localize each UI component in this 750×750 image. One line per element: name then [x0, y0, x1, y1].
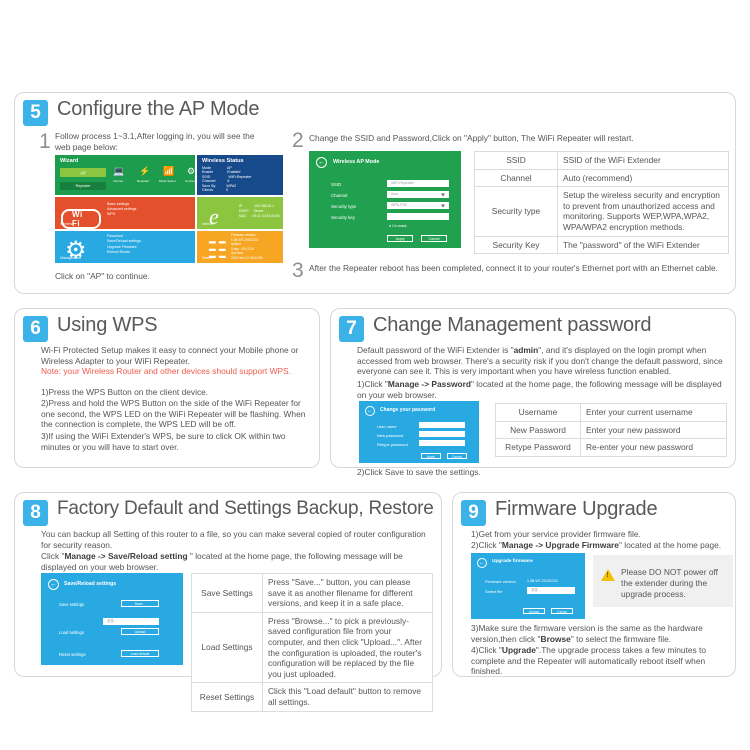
substep-text-5-2: Change the SSID and Password,Click on "A… — [309, 133, 729, 144]
power-warning-box: Please DO NOT power off the extender dur… — [593, 555, 733, 607]
substep-text-5-3: After the Repeater reboot has been compl… — [309, 263, 729, 274]
upload-button[interactable]: Upload — [121, 628, 159, 635]
upload-firmware-button[interactable]: Upload — [523, 608, 545, 614]
apply-button[interactable]: Apply — [387, 235, 413, 242]
ap-field-label-3: Security key — [331, 215, 355, 220]
internet-key-1: DHCP — [239, 209, 249, 213]
status-key-5: Clients — [202, 188, 213, 192]
management-links: Password Save/Reload settings Upgrade Fi… — [107, 234, 141, 256]
table-row: Username Enter your current username — [496, 404, 727, 422]
cell-key: Save Settings — [192, 574, 263, 613]
ap-field-label-1: Channel — [331, 193, 347, 198]
status2-rows: Firmware version 1.0B WT-20151231 Uptime… — [231, 233, 262, 261]
cell-value: Auto (recommend) — [558, 169, 729, 187]
password-panel-title: Change your password — [380, 407, 435, 413]
select-file-input[interactable]: 浏览... — [527, 587, 575, 594]
step-badge-9: 9 — [461, 500, 486, 526]
password-footer: 2)Click Save to save the settings. — [357, 467, 657, 478]
wps-note: Note: your Wireless Router and other dev… — [41, 366, 313, 377]
status-key-0: Mode — [202, 166, 211, 170]
s9-p4-b: Upgrade — [502, 645, 536, 655]
upgrade-panel-title: Upgrade firmware — [492, 559, 533, 564]
step-card-6: 6 Using WPS Wi-Fi Protected Setup makes … — [14, 308, 320, 468]
s9-p3-b: Browse — [541, 634, 571, 644]
wireless-links: Basic settings Advanced settings WPS — [107, 202, 136, 217]
manage-link-3[interactable]: Reboot Router — [107, 250, 141, 255]
step-card-7: 7 Change Management password Default pas… — [330, 308, 736, 468]
s9-p4-a: 4)Click " — [471, 645, 502, 655]
password-paragraph-1: Default password of the WiFi Extender is… — [357, 345, 729, 377]
security-type-value: WPA-PSK — [391, 203, 407, 208]
internet-val-0: 192.168.10.1 — [254, 204, 274, 208]
step-badge-5: 5 — [23, 100, 48, 126]
ap-settings-table: SSID SSID of the WiFi Extender Channel A… — [474, 151, 729, 254]
repeater-button-label: Repeater — [76, 184, 91, 188]
save-settings-button[interactable]: Save... — [121, 600, 159, 607]
table-row: Security type Setup the wireless securit… — [475, 187, 729, 236]
save-reload-panel: ← Save/Reload settings Save settings Sav… — [41, 573, 183, 665]
table-row: Retype Password Re-enter your new passwo… — [496, 439, 727, 457]
upgrade-firmware-panel: ← Upgrade firmware Firmware version 1.0B… — [471, 553, 585, 619]
tile-wizard-title: Wizard — [60, 158, 78, 164]
step-title-7: Change Management password — [373, 314, 651, 337]
tile-internet[interactable]: e IP192.168.10.1 DHCPServer MAC00:11:22:… — [197, 197, 283, 229]
p1-b: admin — [514, 345, 539, 355]
step-title-8: Factory Default and Settings Backup, Res… — [57, 498, 434, 520]
cell-value: The "password" of the WiFi Extender — [558, 236, 729, 254]
instruction-sheet: 5 Configure the AP Mode 1 Follow process… — [0, 0, 750, 750]
cell-key: Security type — [475, 187, 558, 236]
step-title-9: Firmware Upgrade — [495, 498, 657, 521]
load-default-button[interactable]: Load default — [121, 650, 159, 657]
s8-p2-b: Manage -> Save/Reload setting — [64, 551, 187, 561]
ap-field-label-2: Security type — [331, 204, 356, 209]
cell-key: Retype Password — [496, 439, 581, 457]
wps-paragraph-4: 3)If using the WiFi Extender's WPS, be s… — [41, 431, 313, 452]
firmware-paragraph-1: 1)Get from your service provider firmwar… — [471, 529, 733, 540]
flow-label-3: Mode Select — [159, 179, 176, 183]
internet-key-2: MAC — [239, 214, 247, 218]
status-val-4: WPA2 — [226, 184, 236, 188]
step-card-8: 8 Factory Default and Settings Backup, R… — [14, 492, 442, 677]
s9-p2-a: 2)Click " — [471, 540, 502, 550]
wireless-link-2[interactable]: WPS — [107, 212, 136, 217]
table-row: Load Settings Press "Browse..." to pick … — [192, 612, 433, 683]
unmask-radio[interactable]: ● Un-mask — [389, 224, 407, 228]
dashboard-screenshot: Wizard AP Repeater 💻 Internet ⚡ Repeater… — [55, 155, 283, 263]
cell-key: SSID — [475, 152, 558, 170]
plug-icon: ⚡ — [139, 167, 150, 176]
cell-key: Load Settings — [192, 612, 263, 683]
channel-select-value: Auto — [391, 192, 398, 197]
wifi-icon: Wi Fi — [61, 209, 101, 229]
step-card-5: 5 Configure the AP Mode 1 Follow process… — [14, 92, 736, 294]
load-settings-label: Load settings — [59, 630, 84, 635]
status-key-4: Secu By — [202, 184, 215, 188]
ap-button-label: AP — [80, 170, 86, 175]
reset-settings-label: Reset settings — [59, 652, 86, 657]
select-file-value: 浏览... — [531, 588, 541, 593]
security-key-input[interactable] — [387, 213, 449, 220]
table-row: Reset Settings Click this "Load default"… — [192, 683, 433, 711]
internet-rows: IP192.168.10.1 DHCPServer MAC00:11:22:33… — [239, 204, 280, 219]
internet-val-2: 00:11:22:33:44:55 — [253, 214, 280, 218]
step-badge-8: 8 — [23, 500, 48, 526]
table-row: SSID SSID of the WiFi Extender — [475, 152, 729, 170]
wps-paragraph-1: Wi-Fi Protected Setup makes it easy to c… — [41, 345, 313, 366]
substep-number-5-1: 1 — [39, 131, 51, 152]
signal-icon: 📶 — [163, 167, 174, 176]
wps-paragraph-2: 1)Press the WPS Button on the client dev… — [41, 387, 313, 398]
status-val-5: 0 — [226, 188, 228, 192]
cell-value: Re-enter your new password — [581, 439, 727, 457]
table-row: Security Key The "password" of the WiFi … — [475, 236, 729, 254]
flow-label-1: Internet — [113, 179, 123, 183]
tile-management[interactable]: ⚙ Password Save/Reload settings Upgrade … — [55, 231, 195, 263]
step-title-6: Using WPS — [57, 314, 157, 337]
table-row: Channel Auto (recommend) — [475, 169, 729, 187]
back-icon[interactable]: ← — [316, 157, 327, 168]
step-title-5: Configure the AP Mode — [57, 98, 259, 121]
s9-p2-b: Manage -> Upgrade Firmware — [502, 540, 619, 550]
tile-wireless-footer: Wireless — [60, 222, 74, 226]
cell-value: Enter your current username — [581, 404, 727, 422]
change-password-panel: ← Change your password User name New pas… — [359, 401, 479, 463]
password-cancel-button[interactable]: Cancel — [447, 453, 467, 459]
substep-text-5-1: Follow process 1~3.1,After logging in, y… — [55, 131, 271, 152]
pw-field-label-1: New password — [377, 433, 403, 438]
select-file-label: Select file — [485, 589, 502, 594]
tile-wireless-status[interactable]: Wireless Status ModeAP EnableEnabled SSI… — [197, 155, 283, 195]
gear-icon: ⚙ — [187, 167, 195, 176]
ssid-input[interactable]: WiFi-Repeater — [387, 180, 449, 187]
cell-key: Reset Settings — [192, 683, 263, 711]
cell-value: Press "Save..." button, you can please s… — [263, 574, 433, 613]
chevron-down-icon — [441, 193, 445, 196]
flow-label-2: Repeater — [137, 179, 149, 183]
firmware-version-value: 1.0B.WT-20151231 — [527, 579, 558, 583]
cell-key: New Password — [496, 421, 581, 439]
pw-field-label-2: Retype password — [377, 442, 408, 447]
wireless-ap-mode-panel: ← Wireless AP Mode SSID WiFi-Repeater Ch… — [309, 151, 461, 248]
p2-a: 1)Click " — [357, 379, 388, 389]
cell-value: Click this "Load default" button to remo… — [263, 683, 433, 711]
wizard-flow: 💻 Internet ⚡ Repeater 📶 Mode Select ⚙ Co… — [113, 165, 195, 187]
internet-key-0: IP — [239, 204, 242, 208]
cell-value: Enter your new password — [581, 421, 727, 439]
ap-caption: Click on "AP" to continue. — [55, 271, 285, 282]
s8-p2-a: Click " — [41, 551, 64, 561]
cancel-firmware-button[interactable]: Cancel — [551, 608, 573, 614]
load-file-input[interactable]: 浏览... — [103, 618, 159, 625]
backup-settings-table: Save Settings Press "Save..." button, yo… — [191, 573, 433, 712]
load-file-value: 浏览... — [107, 619, 117, 624]
step-badge-7: 7 — [339, 316, 364, 342]
cancel-button[interactable]: Cancel — [421, 235, 447, 242]
substep-number-5-2: 2 — [292, 130, 304, 151]
retype-password-input[interactable] — [419, 440, 465, 446]
username-input[interactable] — [419, 422, 465, 428]
substep-number-5-3: 3 — [292, 260, 304, 281]
p1-a: Default password of the WiFi Extender is… — [357, 345, 514, 355]
tile-status[interactable]: ☷ Firmware version 1.0B WT-20151231 Upti… — [197, 231, 283, 263]
save-settings-label: Save settings — [59, 602, 84, 607]
status-key-2: SSID — [202, 175, 210, 179]
flow-label-4: Connect — [185, 179, 195, 183]
pw-field-label-0: User name — [377, 424, 397, 429]
tile-wireless[interactable]: Wi Fi Basic settings Advanced settings W… — [55, 197, 195, 229]
cell-value: Setup the wireless security and encrypti… — [558, 187, 729, 236]
cell-key: Username — [496, 404, 581, 422]
new-password-input[interactable] — [419, 431, 465, 437]
table-row: New Password Enter your new password — [496, 421, 727, 439]
wifi-icon-label: Wi Fi — [72, 210, 90, 228]
status-key-3: Channel — [202, 179, 215, 183]
backup-paragraph-2: Click "Manage -> Save/Reload setting " l… — [41, 551, 433, 572]
wireless-status-title: Wireless Status — [202, 158, 244, 164]
cell-value: Press "Browse..." to pick a previously-s… — [263, 612, 433, 683]
repeater-button[interactable]: Repeater — [60, 182, 106, 190]
firmware-version-label: Firmware version — [485, 579, 516, 584]
status-val-3: 6 — [227, 179, 229, 183]
tile-internet-footer: Internet — [202, 222, 214, 226]
backup-paragraph-1: You can backup all Setting of this route… — [41, 529, 433, 550]
tile-status-footer: Status — [202, 256, 212, 260]
laptop-icon: 💻 — [113, 167, 124, 176]
s9-p2-c: " located at the home page. — [619, 540, 721, 550]
ap-field-label-0: SSID — [331, 182, 341, 187]
p2-b: Manage -> Password — [388, 379, 471, 389]
back-icon[interactable]: ← — [477, 558, 487, 568]
wireless-status-rows: ModeAP EnableEnabled SSIDWiFi-Repeater C… — [202, 166, 252, 192]
back-icon[interactable]: ← — [365, 406, 375, 416]
channel-select[interactable]: Auto — [387, 191, 449, 198]
wps-paragraph-3: 2)Press and hold the WPS Button on the s… — [41, 398, 313, 430]
status2-val-2: 2015 Nov 12 08:04:56 — [231, 256, 262, 261]
ssid-input-value: WiFi-Repeater — [391, 181, 414, 186]
status-key-1: Enable — [202, 170, 213, 174]
unmask-label: Un-mask — [392, 224, 406, 228]
back-icon[interactable]: ← — [48, 579, 59, 590]
firmware-paragraph-4: 4)Click "Upgrade".The upgrade process ta… — [471, 645, 733, 677]
step-card-9: 9 Firmware Upgrade 1)Get from your servi… — [452, 492, 736, 677]
tile-wizard[interactable]: Wizard AP Repeater 💻 Internet ⚡ Repeater… — [55, 155, 195, 195]
status-val-2: WiFi-Repeater — [228, 175, 251, 179]
step-badge-6: 6 — [23, 316, 48, 342]
ap-panel-title: Wireless AP Mode — [333, 159, 379, 165]
password-fields-table: Username Enter your current username New… — [495, 403, 727, 457]
cell-value: SSID of the WiFi Extender — [558, 152, 729, 170]
status-val-0: AP — [227, 166, 232, 170]
firmware-paragraph-2: 2)Click "Manage -> Upgrade Firmware" loc… — [471, 540, 733, 551]
save-reload-title: Save/Reload settings — [64, 581, 116, 587]
tile-management-footer: Management — [60, 256, 81, 260]
ap-button[interactable]: AP — [60, 168, 106, 177]
power-warning-text: Please DO NOT power off the extender dur… — [621, 567, 725, 600]
cell-key: Security Key — [475, 236, 558, 254]
table-row: Save Settings Press "Save..." button, yo… — [192, 574, 433, 613]
internet-val-1: Server — [254, 209, 264, 213]
status-val-1: Enabled — [227, 170, 240, 174]
s9-p3-c: " to select the firmware file. — [571, 634, 671, 644]
chevron-down-icon-2 — [441, 204, 445, 207]
warning-icon — [601, 569, 615, 581]
firmware-paragraph-3: 3)Make sure the firmware version is the … — [471, 623, 733, 644]
password-paragraph-2: 1)Click "Manage -> Password" located at … — [357, 379, 729, 400]
security-type-select[interactable]: WPA-PSK — [387, 202, 449, 209]
cell-key: Channel — [475, 169, 558, 187]
password-apply-button[interactable]: Apply — [421, 453, 441, 459]
